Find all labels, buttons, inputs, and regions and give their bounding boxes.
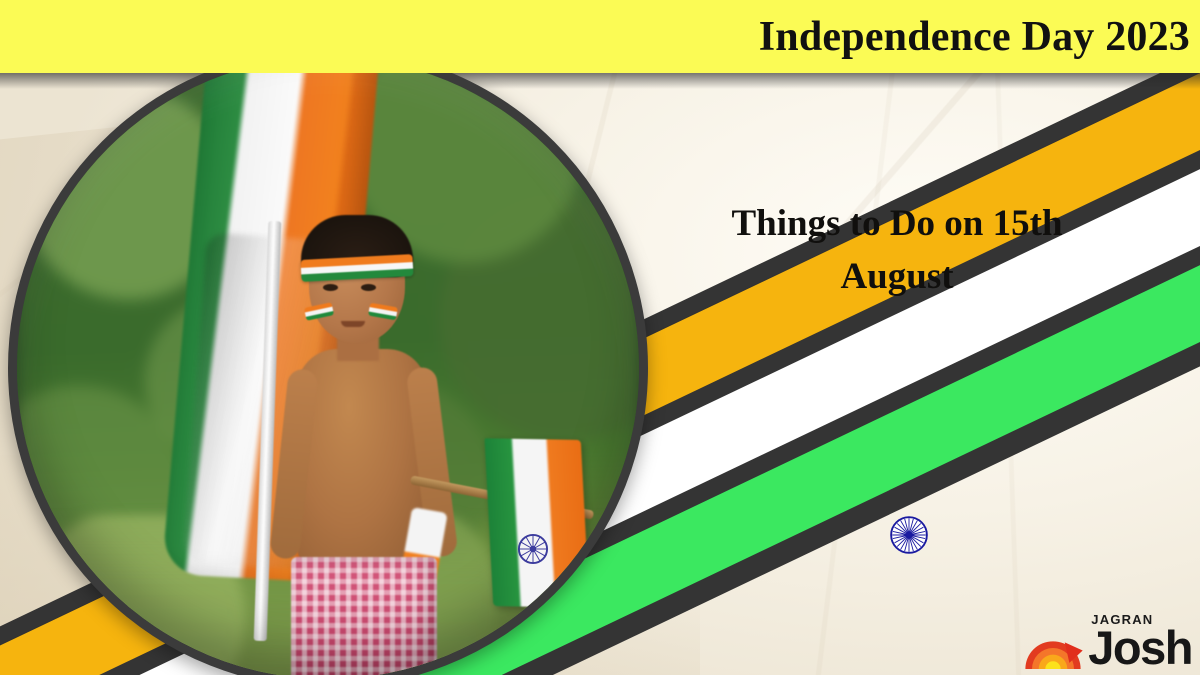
jagran-josh-logo[interactable]: JAGRAN Josh [1022, 613, 1192, 671]
boy-left-eye [323, 284, 338, 291]
ashoka-chakra-icon [890, 516, 928, 554]
handheld-indian-flag [484, 438, 589, 607]
headline: Things to Do on 15th August [672, 198, 1122, 303]
handheld-flag-chakra-icon [517, 533, 549, 565]
page-title: Independence Day 2023 [759, 16, 1200, 58]
boy-right-eye [361, 284, 376, 291]
boy-mouth [341, 321, 365, 327]
headline-line-2: August [672, 251, 1122, 304]
boy-checked-lungi [291, 557, 437, 675]
hero-photo [17, 57, 639, 675]
logo-josh-text: Josh [1088, 624, 1192, 671]
boy-figure [249, 209, 479, 675]
josh-sunburst-icon [1022, 627, 1084, 671]
headline-line-1: Things to Do on 15th [672, 198, 1122, 251]
josh-wordmark: JAGRAN Josh [1088, 613, 1192, 671]
poster-root: Independence Day 2023 Things to Do on 15… [0, 0, 1200, 675]
header-band: Independence Day 2023 [0, 0, 1200, 73]
hero-photo-circle [8, 48, 648, 675]
